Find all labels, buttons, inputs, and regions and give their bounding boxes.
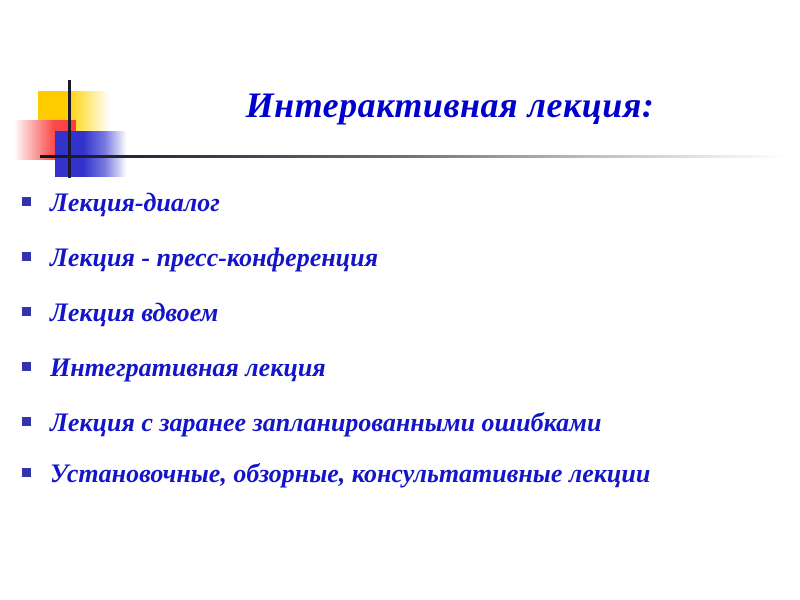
title-divider-rule xyxy=(40,155,788,158)
square-bullet-icon xyxy=(22,362,31,371)
square-bullet-icon xyxy=(22,417,31,426)
presentation-slide: Интерактивная лекция: Лекция-диалог Лекц… xyxy=(0,0,800,600)
list-item: Интегративная лекция xyxy=(22,350,792,387)
yellow-square-icon xyxy=(38,91,110,139)
list-item-label: Лекция-диалог xyxy=(50,185,792,222)
list-item-label: Интегративная лекция xyxy=(50,350,792,387)
square-bullet-icon xyxy=(22,468,31,477)
bullet-list: Лекция-диалог Лекция - пресс-конференция… xyxy=(22,185,792,506)
list-item: Лекция-диалог xyxy=(22,185,792,222)
red-square-icon xyxy=(14,120,76,160)
square-bullet-icon xyxy=(22,252,31,261)
blue-square-icon xyxy=(55,131,127,177)
list-item-label: Лекция вдвоем xyxy=(50,295,792,332)
list-item: Лекция вдвоем xyxy=(22,295,792,332)
vertical-rule xyxy=(68,80,71,178)
list-item: Установочные, обзорные, консультативные … xyxy=(22,456,792,493)
list-item: Лекция - пресс-конференция xyxy=(22,240,792,277)
square-bullet-icon xyxy=(22,197,31,206)
list-item-label: Лекция с заранее запланированными ошибка… xyxy=(50,405,792,442)
square-bullet-icon xyxy=(22,307,31,316)
list-item-label: Установочные, обзорные, консультативные … xyxy=(50,456,792,493)
slide-title: Интерактивная лекция: xyxy=(120,84,780,126)
list-item: Лекция с заранее запланированными ошибка… xyxy=(22,405,792,442)
list-item-label: Лекция - пресс-конференция xyxy=(50,240,792,277)
